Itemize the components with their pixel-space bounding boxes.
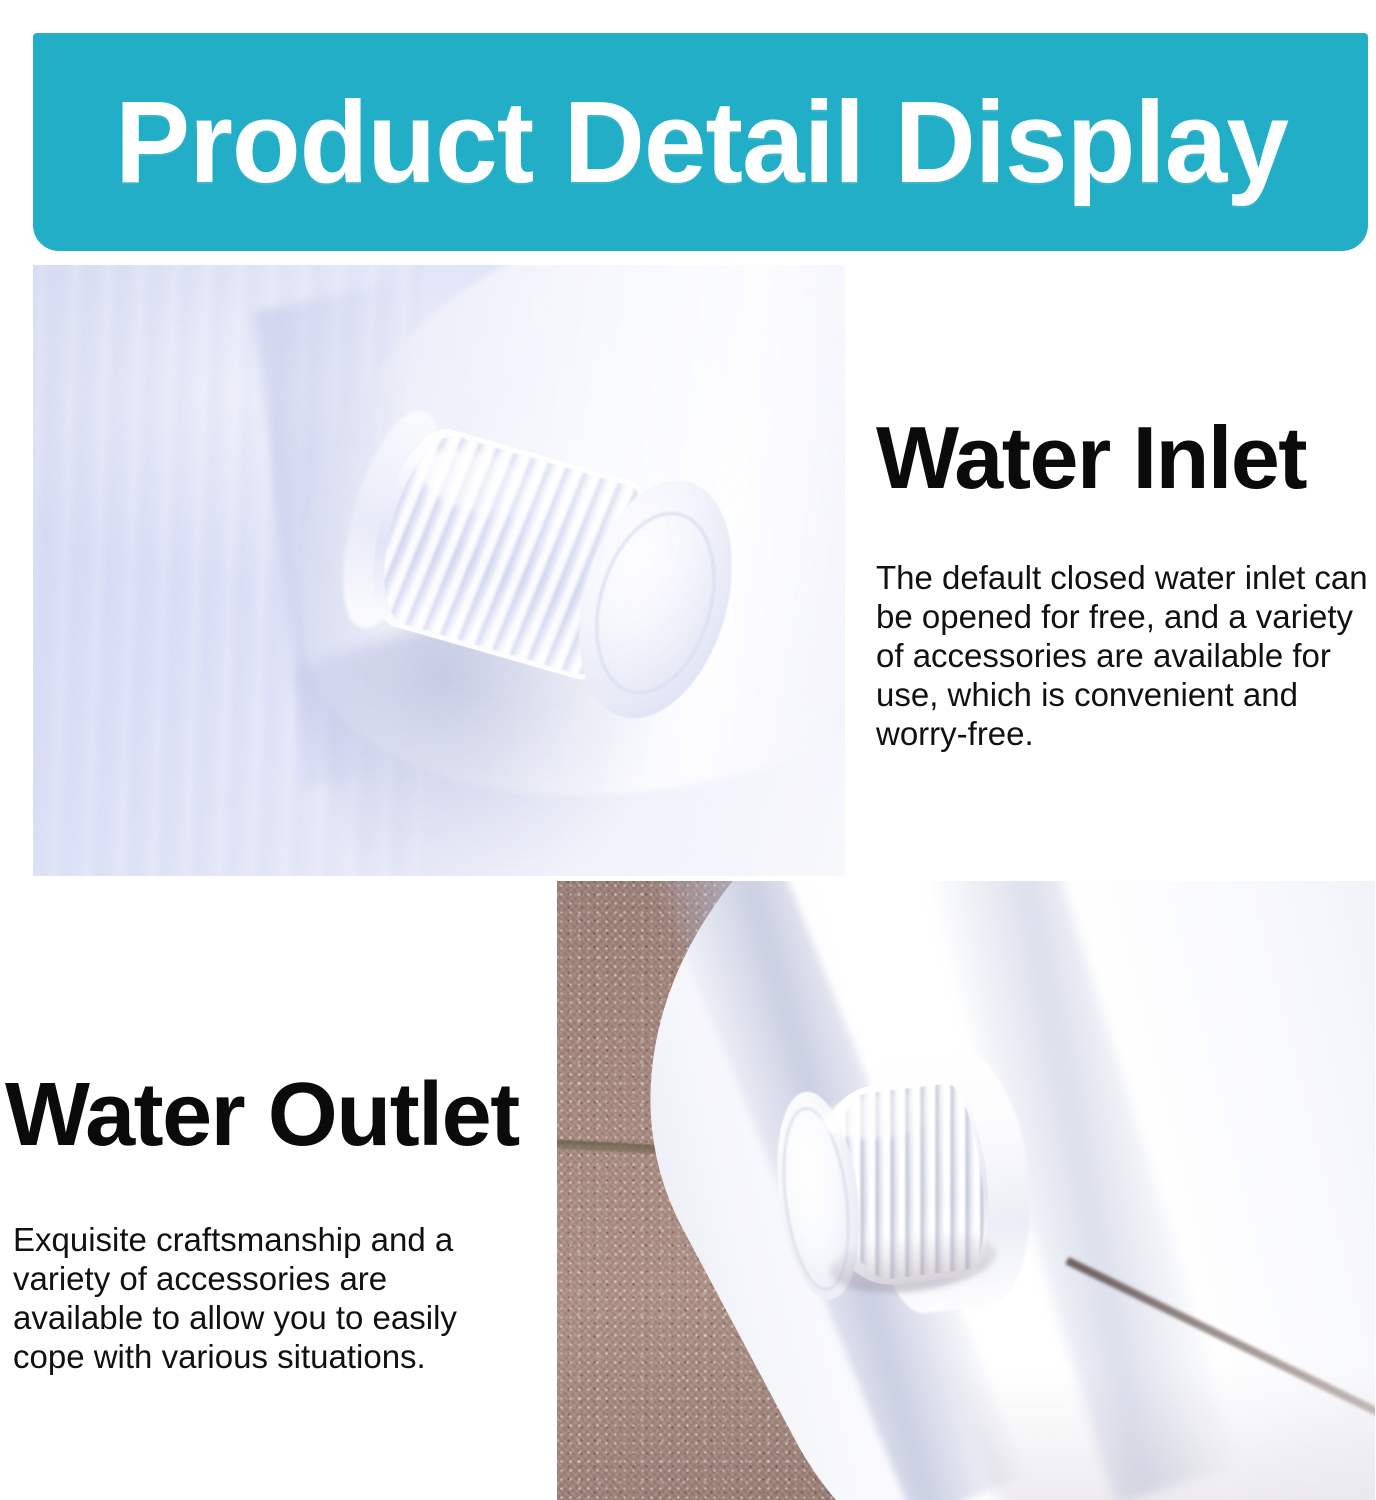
water-outlet-description: Exquisite craftsmanship and a variety of… xyxy=(13,1220,468,1376)
water-outlet-heading: Water Outlet xyxy=(5,1070,475,1160)
page-title: Product Detail Display xyxy=(115,84,1288,200)
page-header-banner: Product Detail Display xyxy=(33,33,1368,251)
water-inlet-photo xyxy=(33,265,845,876)
water-inlet-description: The default closed water inlet can be op… xyxy=(876,558,1374,753)
water-outlet-text-block: Water Outlet Exquisite craftsmanship and… xyxy=(5,1070,475,1376)
water-inlet-text-block: Water Inlet The default closed water inl… xyxy=(876,414,1374,753)
outlet-threaded-spout xyxy=(765,1058,1052,1311)
water-inlet-heading: Water Inlet xyxy=(876,414,1374,502)
inlet-photo-vignette xyxy=(33,265,845,876)
water-outlet-photo xyxy=(557,881,1375,1500)
